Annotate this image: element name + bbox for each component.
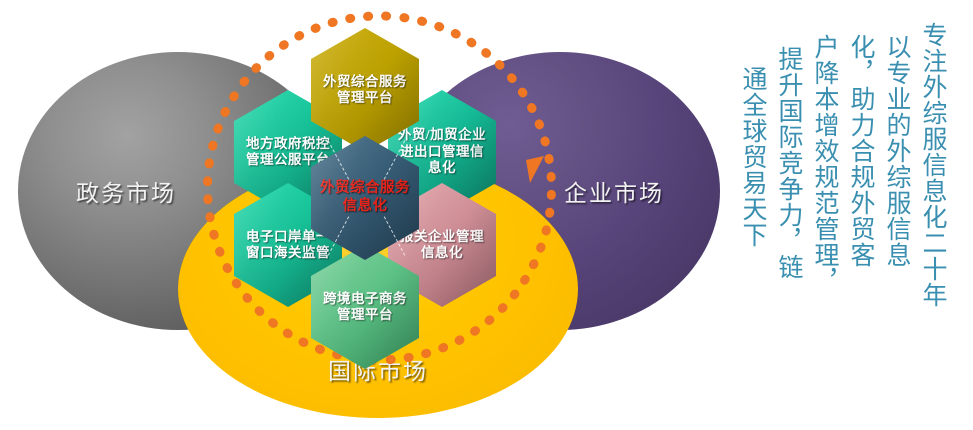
slogan-block: 专注外综服信息化二十年 以专业的外综服信息 化，助力合规外贸客 户降本增效规范管… xyxy=(660,0,973,430)
enterprise-market-label: 企业市场 xyxy=(564,174,664,208)
hex-bottom-label: 跨境电子商务管理平台 xyxy=(311,291,419,324)
slogan-column-2: 以专业的外综服信息 xyxy=(884,34,911,268)
slogan-column-5: 提升国际竞争力，链 xyxy=(776,46,803,280)
hexagon-cluster: 地方政府税控管理公服平台 电子口岸单一窗口海关监管 外贸/加贸企业进出口管理信息… xyxy=(210,28,520,368)
slogan-column-4: 户降本增效规范管理， xyxy=(812,34,839,294)
slogan-column-6: 通全球贸易天下 xyxy=(740,66,767,248)
gov-market-label: 政务市场 xyxy=(76,174,176,208)
slogan-column-1: 专注外综服信息化二十年 xyxy=(920,22,947,308)
slogan-column-3: 化，助力合规外贸客 xyxy=(848,34,875,268)
diagram-canvas: 政务市场 企业市场 国际市场 地方政府税控管理公服平台 电子口岸单一窗口海关监管 xyxy=(0,0,973,430)
hex-top-label: 外贸综合服务管理平台 xyxy=(311,74,419,107)
hex-center-core-label: 外贸综合服务信息化 xyxy=(311,180,419,215)
